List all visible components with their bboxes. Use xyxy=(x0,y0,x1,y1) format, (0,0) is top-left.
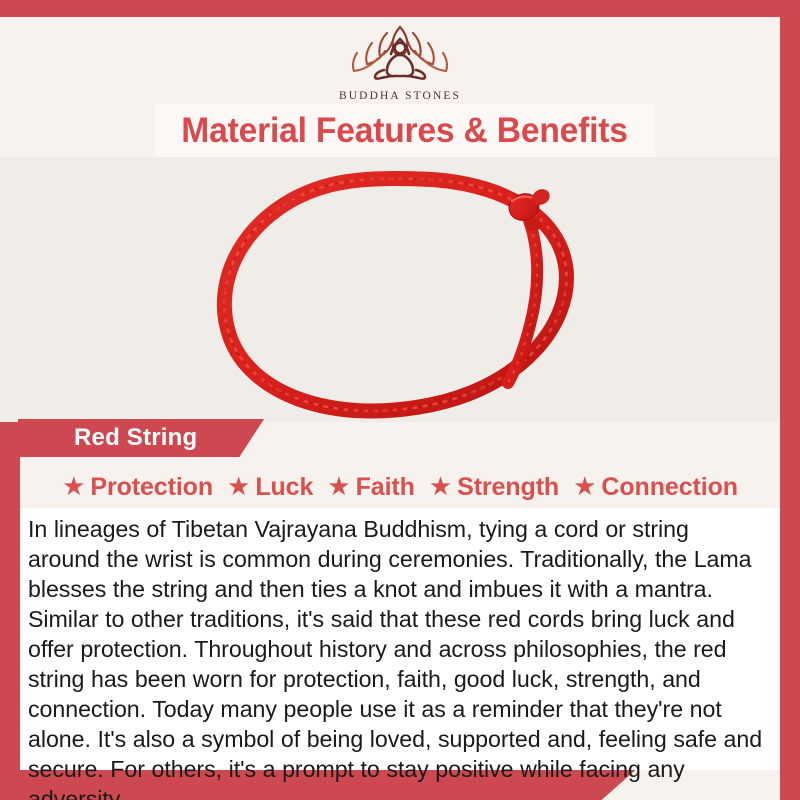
top-border-accent xyxy=(0,0,800,17)
feature-label: Protection xyxy=(90,473,213,502)
description-panel: In lineages of Tibetan Vajrayana Buddhis… xyxy=(20,508,780,770)
feature-label: Strength xyxy=(457,473,559,502)
brand-header: BUDDHA STONES xyxy=(0,17,800,103)
star-icon: ★ xyxy=(429,473,452,499)
brand-wordmark: BUDDHA STONES xyxy=(339,90,461,102)
page-title: Material Features & Benefits xyxy=(182,111,629,151)
star-icon: ★ xyxy=(327,473,350,499)
infographic-poster: BUDDHA STONES Material Features & Benefi… xyxy=(0,0,800,800)
feature-item-luck: ★ Luck xyxy=(227,473,313,502)
star-icon: ★ xyxy=(227,473,250,499)
feature-label: Luck xyxy=(255,473,313,502)
product-label-banner: Red String xyxy=(18,419,264,457)
title-panel: Material Features & Benefits xyxy=(155,104,655,157)
feature-item-connection: ★ Connection xyxy=(573,473,738,502)
red-braided-string-bracelet xyxy=(0,157,800,427)
feature-list: ★ Protection ★ Luck ★ Faith ★ Strength ★… xyxy=(0,466,800,508)
feature-label: Connection xyxy=(601,473,738,502)
product-label: Red String xyxy=(74,424,197,452)
feature-item-protection: ★ Protection xyxy=(62,473,213,502)
star-icon: ★ xyxy=(62,473,85,499)
description-text: In lineages of Tibetan Vajrayana Buddhis… xyxy=(28,514,766,800)
feature-item-strength: ★ Strength xyxy=(429,473,559,502)
feature-item-faith: ★ Faith xyxy=(327,473,415,502)
star-icon: ★ xyxy=(573,473,596,499)
lotus-meditation-icon xyxy=(341,21,459,88)
feature-label: Faith xyxy=(356,473,415,502)
